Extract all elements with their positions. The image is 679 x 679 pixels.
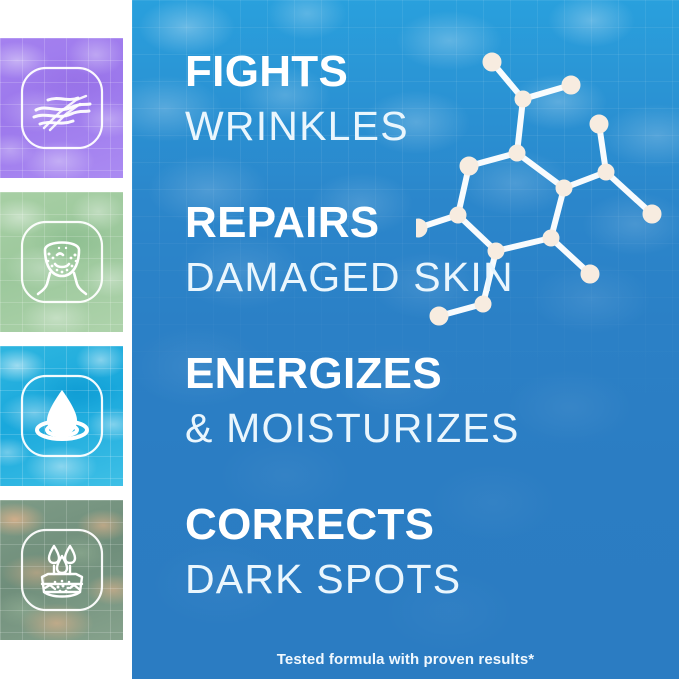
thumbnail-rail [0, 0, 123, 679]
dark-spots-thumbnail[interactable] [0, 500, 123, 640]
benefit-headline: REPAIRS [185, 201, 514, 245]
wrinkles-thumbnail[interactable] [0, 38, 123, 178]
infographic-canvas: FIGHTS WRINKLES REPAIRS DAMAGED SKIN ENE… [0, 0, 679, 679]
benefit-block-repairs: REPAIRS DAMAGED SKIN [185, 201, 514, 298]
moisture-thumbnail[interactable] [0, 346, 123, 486]
benefit-subline: & MOISTURIZES [185, 408, 520, 449]
benefit-subline: DARK SPOTS [185, 559, 461, 600]
face-skin-icon [14, 214, 110, 310]
benefit-headline: CORRECTS [185, 503, 461, 547]
benefit-subline: DAMAGED SKIN [185, 257, 514, 298]
benefit-block-fights: FIGHTS WRINKLES [185, 50, 409, 147]
damaged-skin-thumbnail[interactable] [0, 192, 123, 332]
benefit-headline: FIGHTS [185, 50, 409, 94]
wrinkle-lines-icon [14, 60, 110, 156]
benefit-headline: ENERGIZES [185, 352, 520, 396]
water-droplet-ripple-icon [14, 368, 110, 464]
benefit-block-corrects: CORRECTS DARK SPOTS [185, 503, 461, 600]
main-panel: FIGHTS WRINKLES REPAIRS DAMAGED SKIN ENE… [132, 0, 679, 679]
footnote-text: Tested formula with proven results* [132, 651, 679, 668]
benefit-block-energizes: ENERGIZES & MOISTURIZES [185, 352, 520, 449]
benefit-subline: WRINKLES [185, 106, 409, 147]
molecule-diagram-icon [416, 48, 679, 348]
droplets-on-skin-icon [14, 522, 110, 618]
